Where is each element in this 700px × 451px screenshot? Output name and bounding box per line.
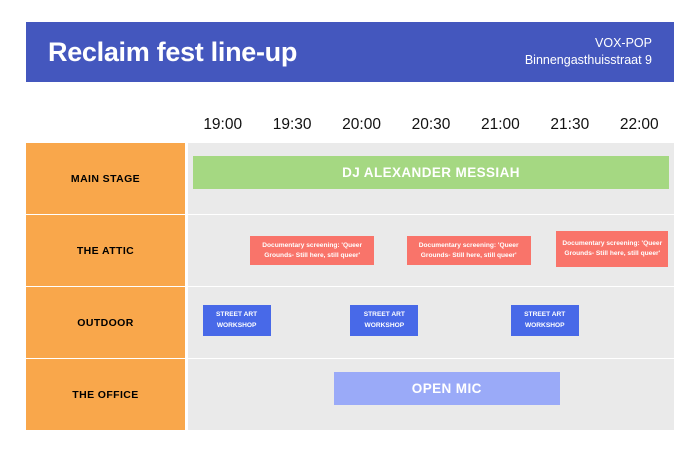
time-label-2030: 20:30 (396, 112, 465, 138)
stage-name: OUTDOOR (77, 317, 133, 329)
event-block[interactable]: STREET ART WORKSHOP (350, 305, 418, 336)
stage-label-cell-outdoor: OUTDOOR (26, 287, 185, 358)
stage-label-cell-main-stage: MAIN STAGE (26, 143, 185, 214)
event-block[interactable]: OPEN MIC (334, 372, 560, 405)
stage-track: Documentary screening: 'Queer Grounds- S… (188, 215, 674, 286)
time-label-2000: 20:00 (327, 112, 396, 138)
event-block[interactable]: Documentary screening: 'Queer Grounds- S… (407, 236, 531, 265)
schedule-row: MAIN STAGEDJ ALEXANDER MESSIAH (26, 143, 674, 214)
event-block[interactable]: DJ ALEXANDER MESSIAH (193, 156, 669, 189)
stage-label-cell-the-office: THE OFFICE (26, 359, 185, 430)
schedule-row: THE ATTICDocumentary screening: 'Queer G… (26, 215, 674, 286)
venue-name: VOX-POP (525, 35, 652, 52)
schedule-row: THE OFFICEOPEN MIC (26, 359, 674, 430)
stage-name: THE OFFICE (72, 389, 138, 401)
stage-label-cell-the-attic: THE ATTIC (26, 215, 185, 286)
event-block[interactable]: STREET ART WORKSHOP (203, 305, 271, 336)
page-title: Reclaim fest line-up (48, 39, 297, 66)
schedule-row: OUTDOORSTREET ART WORKSHOPSTREET ART WOR… (26, 287, 674, 358)
schedule-grid: MAIN STAGEDJ ALEXANDER MESSIAHTHE ATTICD… (26, 143, 674, 431)
time-label-1900: 19:00 (188, 112, 257, 138)
time-label-2200: 22:00 (605, 112, 674, 138)
venue-info: VOX-POP Binnengasthuisstraat 9 (525, 35, 652, 69)
time-label-2130: 21:30 (535, 112, 604, 138)
stage-name: MAIN STAGE (71, 173, 140, 185)
time-label-1930: 19:30 (257, 112, 326, 138)
venue-address: Binnengasthuisstraat 9 (525, 52, 652, 69)
event-block[interactable]: STREET ART WORKSHOP (511, 305, 579, 336)
stage-track: OPEN MIC (188, 359, 674, 430)
stage-track: DJ ALEXANDER MESSIAH (188, 143, 674, 214)
time-label-2100: 21:00 (466, 112, 535, 138)
stage-track: STREET ART WORKSHOPSTREET ART WORKSHOPST… (188, 287, 674, 358)
page-header: Reclaim fest line-up VOX-POP Binnengasth… (26, 22, 674, 82)
event-block[interactable]: Documentary screening: 'Queer Grounds- S… (556, 231, 668, 267)
stage-name: THE ATTIC (77, 245, 134, 257)
event-block[interactable]: Documentary screening: 'Queer Grounds- S… (250, 236, 374, 265)
time-axis: 19:0019:3020:0020:3021:0021:3022:00 (188, 112, 674, 138)
